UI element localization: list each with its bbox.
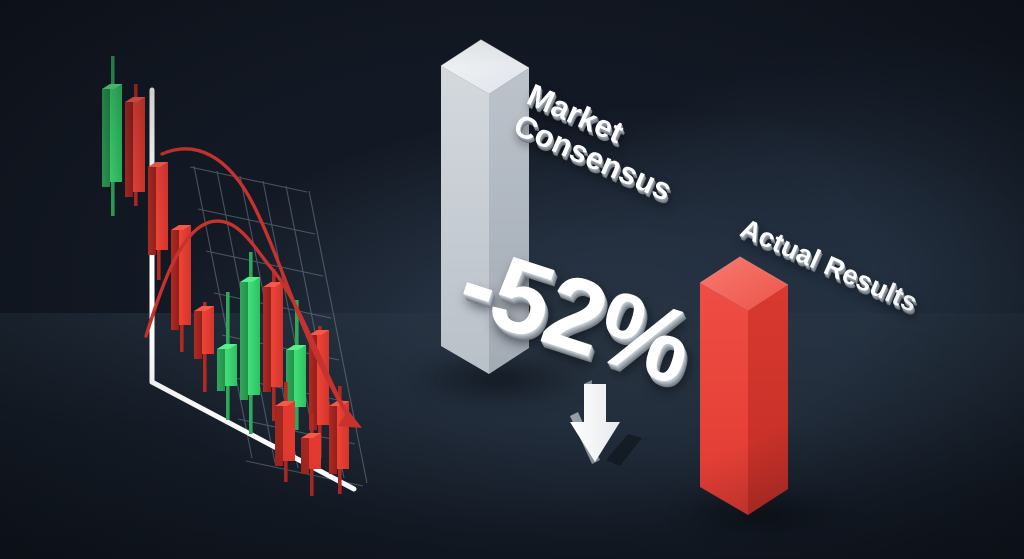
infographic-scene: Market Consensus Actual Results -52% xyxy=(0,0,1024,559)
background-vignette xyxy=(0,0,1024,559)
